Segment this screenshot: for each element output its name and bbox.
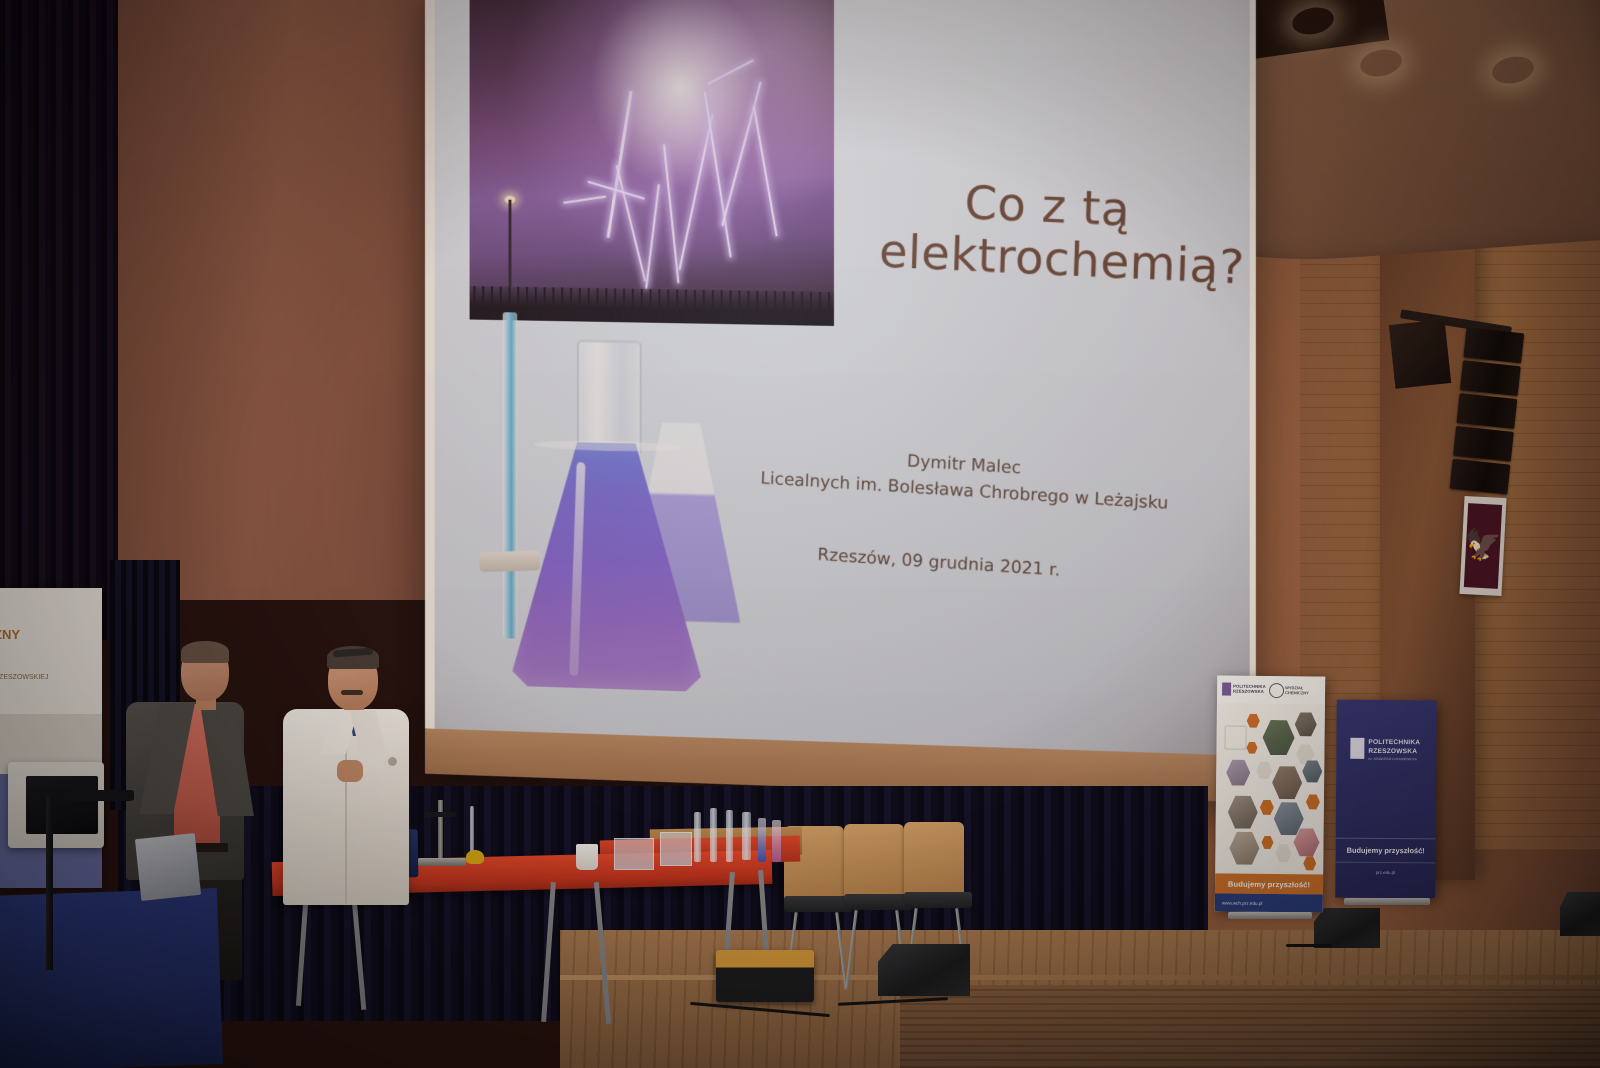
beaker (660, 832, 692, 866)
banner-base (1228, 912, 1312, 919)
camera-stand-pole (46, 796, 53, 970)
coat-badge (388, 757, 397, 766)
lecture-hall-photo: 🦅 (0, 0, 1600, 1068)
banner-faculty-name: WYDZIAŁCHEMICZNY (1285, 685, 1309, 695)
banner-hex-collage (1215, 703, 1325, 872)
pink-reagent-bottle (772, 820, 781, 862)
stage-front-panel (900, 985, 1600, 1068)
test-tube (694, 812, 701, 862)
emblem-field: 🦅 (1464, 503, 1502, 589)
banner-left-subtext: RZESZOWSKIEJ (0, 674, 98, 681)
polish-eagle-emblem: 🦅 (1459, 496, 1506, 596)
floor-cable (1286, 944, 1332, 947)
flask-neck (577, 339, 642, 452)
paper-cup (576, 844, 598, 870)
faculty-seal-icon (1269, 683, 1284, 698)
lightning-storm-photo (470, 0, 834, 326)
banner-org-name: POLITECHNIKARZESZOWSKA (1368, 739, 1420, 756)
left-wall-panel (110, 0, 470, 600)
camera-arm (60, 790, 134, 801)
ring-stand-base (418, 858, 466, 866)
projection-screen: Co z tą elektrochemią? Dymitr Malec Lice… (435, 0, 1250, 756)
university-logo-icon (1350, 738, 1364, 759)
monitor-screen (26, 776, 98, 834)
far-left-curtain (0, 0, 118, 640)
beaker (614, 838, 654, 870)
utility-pole (509, 200, 512, 287)
chair-seat (844, 894, 912, 910)
chair-back (844, 824, 904, 900)
banner-url: www.wch.prz.edu.pl (1222, 900, 1263, 905)
stage-monitor-wedge (1314, 908, 1380, 948)
banner-url: prz.edu.pl (1335, 870, 1435, 876)
banner-base (1344, 898, 1430, 905)
eagle-icon: 🦅 (1464, 530, 1503, 562)
blue-reagent-bottle (758, 818, 766, 862)
mustache (341, 690, 363, 695)
test-tube (726, 810, 733, 862)
banner-divider (1336, 838, 1436, 840)
slide-author-block: Dymitr Malec Licealnych im. Bolesława Ch… (728, 439, 1203, 519)
banner-divider (1336, 862, 1436, 864)
ring-stand-rod (438, 800, 443, 862)
banner-slogan: Budujemy przyszłość! (1228, 879, 1310, 889)
banner-faculty-rollup: POLITECHNIKARZESZOWSKA WYDZIAŁCHEMICZNY (1215, 675, 1325, 912)
banner-footer-strip: www.wch.prz.edu.pl (1215, 893, 1323, 912)
speaker-mount-plate (1389, 319, 1451, 389)
burette-clamp (479, 551, 540, 572)
stage-monitor-wedge (878, 944, 970, 996)
university-logo-icon (1222, 682, 1231, 695)
banner-org-sub: im. IGNACEGO ŁUKASIEWICZA (1368, 757, 1417, 761)
blue-draped-table (0, 888, 223, 1068)
chair-seat (784, 896, 852, 912)
hand (337, 760, 363, 782)
stage-monitor-wedge (1560, 892, 1600, 936)
banner-slogan: Budujemy przyszłość! (1336, 846, 1436, 856)
test-tube (710, 808, 717, 862)
banner-university-rollup: POLITECHNIKARZESZOWSKA im. IGNACEGO ŁUKA… (1335, 700, 1436, 899)
erlenmeyer-flask-photo (479, 312, 744, 705)
banner-org-name: POLITECHNIKARZESZOWSKA (1233, 684, 1266, 695)
chair-back (904, 822, 964, 898)
laptop (135, 833, 201, 901)
slide-place-date: Rzeszów, 09 grudnia 2021 r. (728, 539, 1151, 586)
slide-title: Co z tą elektrochemią? (878, 173, 1216, 292)
banner-slogan-band: Budujemy przyszłość! (1215, 873, 1323, 894)
banner-header-strip: POLITECHNIKARZESZOWSKA WYDZIAŁCHEMICZNY (1217, 675, 1325, 705)
ring-stand-clamp (424, 812, 456, 817)
banner-left-text: ZNY (0, 626, 98, 644)
reagent-bottle (742, 812, 751, 860)
tool-case (716, 950, 814, 1002)
hair (181, 641, 229, 663)
projection-screen-frame: Co z tą elektrochemią? Dymitr Malec Lice… (425, 0, 1256, 803)
preview-monitor (8, 762, 104, 848)
burette-tube (503, 312, 518, 638)
chair-seat (904, 892, 972, 908)
yellow-stopper (466, 850, 484, 864)
